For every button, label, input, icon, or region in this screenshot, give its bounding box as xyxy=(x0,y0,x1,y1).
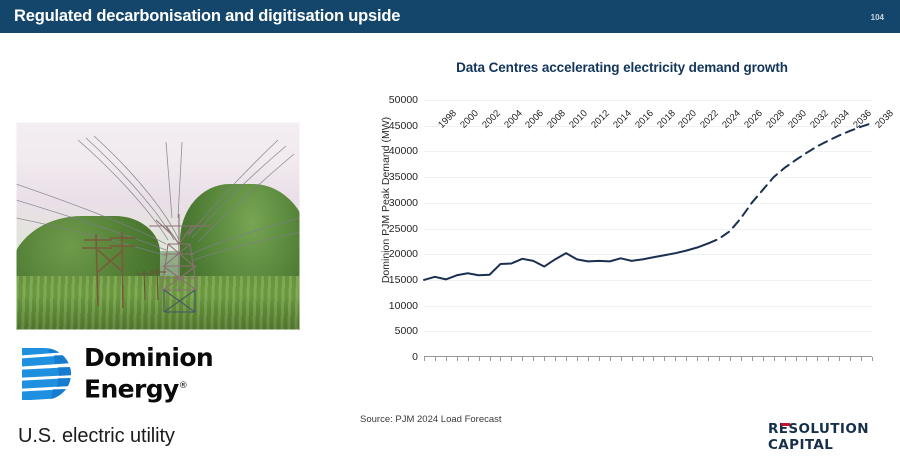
transmission-line-photo xyxy=(16,122,300,330)
x-axis-tick-mark xyxy=(719,357,720,361)
x-axis-tick-mark xyxy=(872,357,873,361)
x-axis-tick-mark xyxy=(839,357,840,361)
chart-source-note: Source: PJM 2024 Load Forecast xyxy=(360,414,502,425)
x-axis-tick-mark xyxy=(806,357,807,361)
x-axis-tick-mark xyxy=(675,357,676,361)
x-axis-tick-mark xyxy=(446,357,447,361)
dominion-line1: Dominion xyxy=(84,343,213,372)
x-axis-tick-mark xyxy=(741,357,742,361)
x-axis-tick-mark xyxy=(610,357,611,361)
x-axis-tick-mark xyxy=(774,357,775,361)
slide-header-bar: Regulated decarbonisation and digitisati… xyxy=(0,0,900,33)
x-axis-tick-mark xyxy=(861,357,862,361)
x-axis-tick-mark xyxy=(643,357,644,361)
x-axis-tick-mark xyxy=(828,357,829,361)
x-axis-tick-mark xyxy=(664,357,665,361)
y-axis-tick-label: 30000 xyxy=(389,197,418,209)
dominion-sphere-icon xyxy=(18,346,76,402)
resolution-capital-logo: RESOLUTION CAPITAL xyxy=(768,420,886,454)
chart-line-forecast xyxy=(708,123,872,243)
x-axis-tick-mark xyxy=(599,357,600,361)
x-axis-tick-mark xyxy=(686,357,687,361)
y-axis-tick-label: 0 xyxy=(412,351,418,363)
x-axis-tick-mark xyxy=(763,357,764,361)
x-axis-tick-mark xyxy=(522,357,523,361)
x-axis-tick-mark xyxy=(632,357,633,361)
x-axis-tick-mark xyxy=(621,357,622,361)
chart-series-layer xyxy=(424,100,872,357)
x-axis-tick-mark xyxy=(479,357,480,361)
x-axis-tick-mark xyxy=(730,357,731,361)
x-axis-tick-mark xyxy=(555,357,556,361)
rc-accent-bar xyxy=(781,423,790,426)
dominion-energy-logo: Dominion Energy® xyxy=(18,344,248,406)
x-axis-tick-mark xyxy=(653,357,654,361)
x-axis-tick-mark xyxy=(424,357,425,361)
x-axis-tick-mark xyxy=(708,357,709,361)
x-axis-tick-mark xyxy=(850,357,851,361)
page-number: 104 xyxy=(871,13,884,22)
y-axis-tick-label: 40000 xyxy=(389,145,418,157)
y-axis-tick-label: 45000 xyxy=(389,120,418,132)
dominion-wordmark: Dominion Energy® xyxy=(84,344,213,403)
x-axis-tick-mark xyxy=(697,357,698,361)
chart-title: Data Centres accelerating electricity de… xyxy=(352,60,892,75)
registered-trademark-icon: ® xyxy=(179,381,187,391)
x-axis-tick-mark xyxy=(511,357,512,361)
x-axis-tick-mark xyxy=(566,357,567,361)
x-axis-tick-mark xyxy=(468,357,469,361)
dominion-line2: Energy xyxy=(84,374,179,403)
x-axis-tick-mark xyxy=(490,357,491,361)
x-axis-tick-mark xyxy=(817,357,818,361)
photo-border xyxy=(16,122,300,330)
rc-wordmark-line1: RESOLUTION xyxy=(768,422,869,437)
page-title: Regulated decarbonisation and digitisati… xyxy=(14,7,400,26)
x-axis-tick-mark xyxy=(533,357,534,361)
x-axis-tick-mark xyxy=(577,357,578,361)
chart-container: Data Centres accelerating electricity de… xyxy=(352,52,892,452)
chart-plot-area: 0500010000150002000025000300003500040000… xyxy=(424,100,872,357)
y-axis-tick-label: 15000 xyxy=(389,274,418,286)
y-axis-tick-label: 10000 xyxy=(389,300,418,312)
x-axis-tick-label: 2038 xyxy=(873,108,896,131)
y-axis-tick-label: 20000 xyxy=(389,248,418,260)
y-axis-tick-label: 35000 xyxy=(389,171,418,183)
x-axis-tick-mark xyxy=(435,357,436,361)
x-axis-tick-mark xyxy=(457,357,458,361)
x-axis-tick-mark xyxy=(796,357,797,361)
rc-wordmark-line2: CAPITAL xyxy=(768,438,886,453)
y-axis-tick-label: 50000 xyxy=(389,94,418,106)
left-panel-caption: U.S. electric utility xyxy=(18,425,175,448)
x-axis-tick-mark xyxy=(785,357,786,361)
y-axis-tick-label: 5000 xyxy=(395,325,418,337)
chart-line-historical xyxy=(424,243,708,279)
x-axis-tick-mark xyxy=(588,357,589,361)
x-axis-tick-mark xyxy=(500,357,501,361)
x-axis-tick-mark xyxy=(752,357,753,361)
x-axis-tick-mark xyxy=(544,357,545,361)
y-axis-tick-label: 25000 xyxy=(389,223,418,235)
